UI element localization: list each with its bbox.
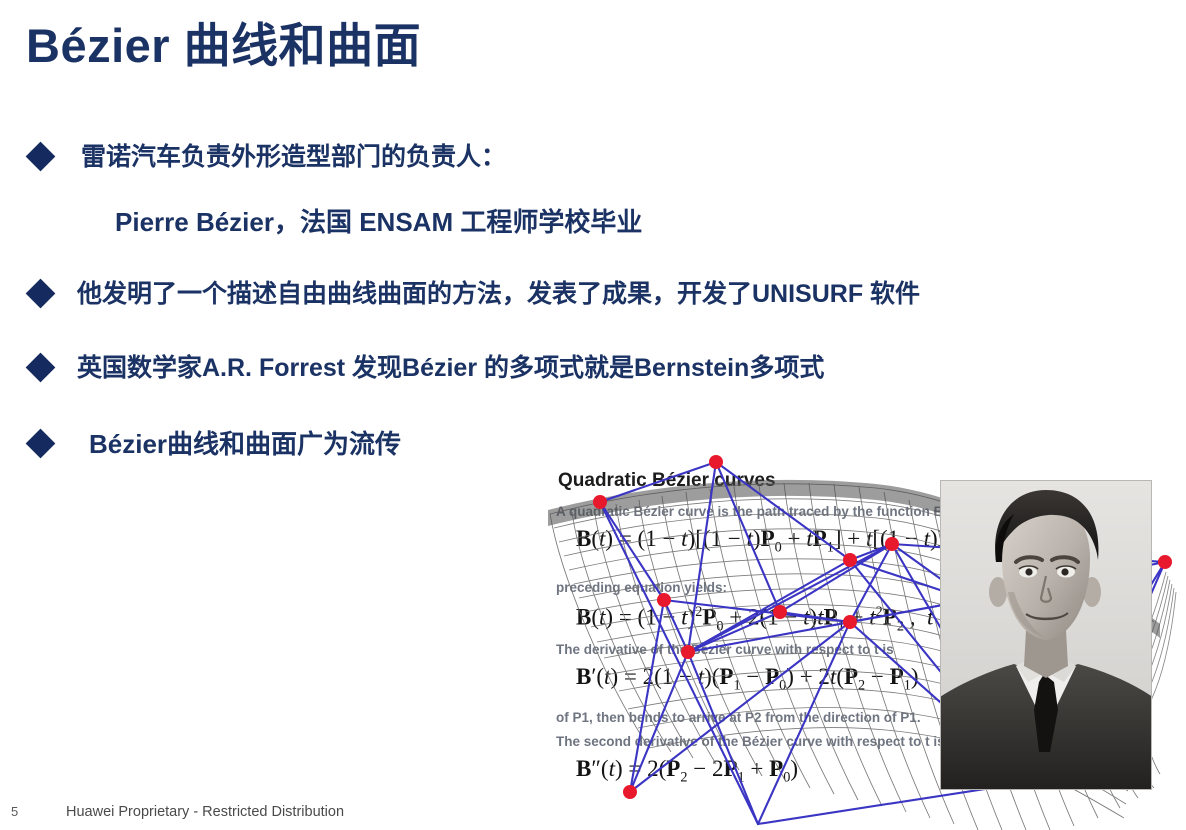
diamond-bullet-icon (26, 353, 56, 383)
sub-line-text: Pierre Bézier，法国 ENSAM 工程师学校毕业 (115, 202, 1186, 239)
page-number: 5 (11, 804, 18, 819)
portrait-illustration (940, 480, 1152, 790)
pierre-bezier-portrait (940, 480, 1152, 790)
diamond-bullet-icon (26, 279, 56, 309)
list-item-label: Bézier曲线和曲面广为流传 (89, 425, 401, 463)
list-item: 英国数学家A.R. Forrest 发现Bézier 的多项式就是Bernste… (0, 349, 1186, 387)
list-item: 雷诺汽车负责外形造型部门的负责人： (0, 138, 1186, 176)
diamond-bullet-icon (26, 429, 56, 459)
diamond-bullet-icon (26, 142, 56, 172)
confidentiality-notice: Huawei Proprietary - Restricted Distribu… (66, 804, 344, 820)
bullet-list: 雷诺汽车负责外形造型部门的负责人： Pierre Bézier，法国 ENSAM… (0, 138, 1186, 463)
list-item: 他发明了一个描述自由曲线曲面的方法，发表了成果，开发了UNISURF 软件 (0, 275, 1186, 313)
list-item-label: 雷诺汽车负责外形造型部门的负责人： (81, 138, 506, 176)
page-title: Bézier 曲线和曲面 (26, 20, 421, 72)
list-item-label: 英国数学家A.R. Forrest 发现Bézier 的多项式就是Bernste… (77, 349, 824, 387)
list-item-label: 他发明了一个描述自由曲线曲面的方法，发表了成果，开发了UNISURF 软件 (77, 275, 920, 313)
slide-canvas: Bézier 曲线和曲面 雷诺汽车负责外形造型部门的负责人： Pierre Bé… (0, 0, 1186, 830)
